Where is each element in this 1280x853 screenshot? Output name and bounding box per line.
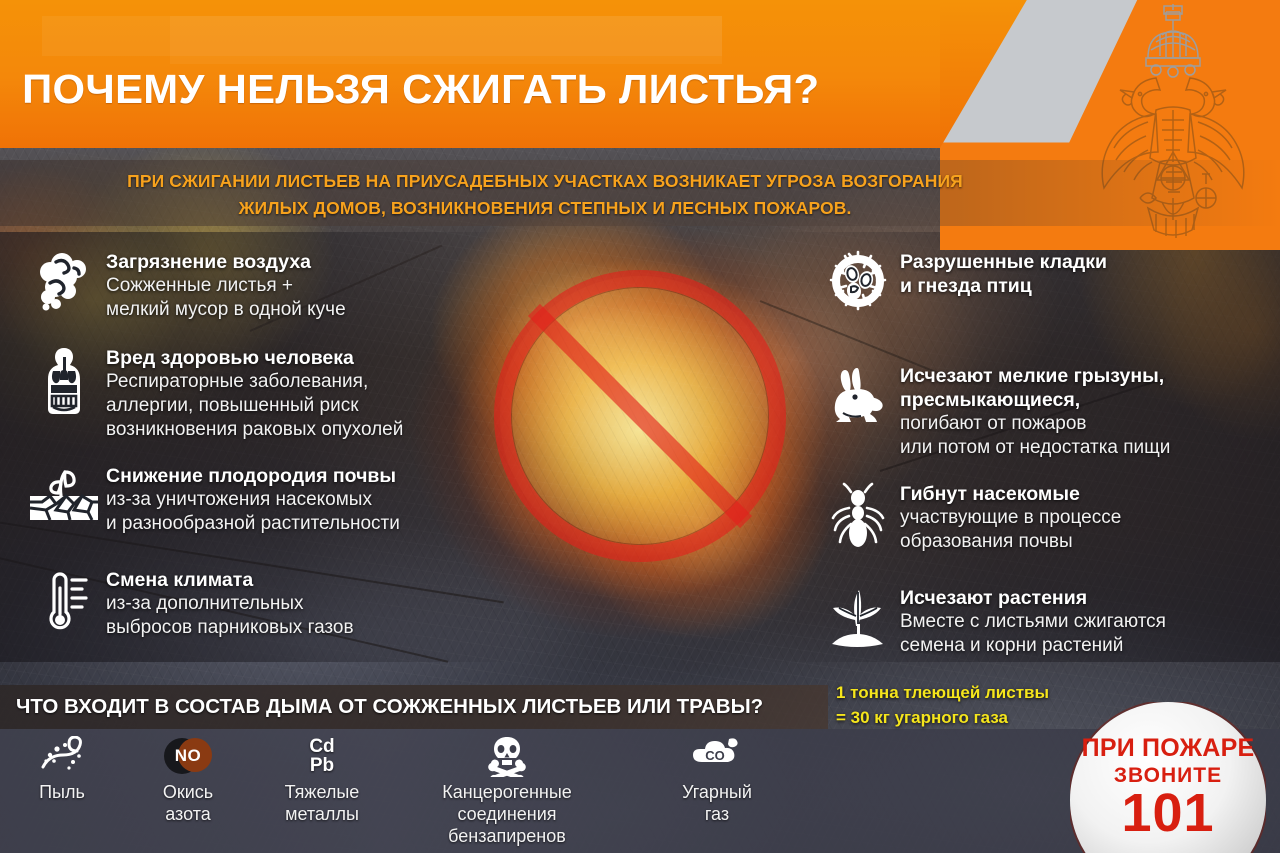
fact-body: участвующие в процессе образования почвы (900, 506, 1278, 554)
co-formula: CO (705, 748, 725, 763)
smoke-cloud-icon (22, 248, 106, 322)
badge-line-1: ПРИ ПОЖАРЕ (1070, 734, 1266, 763)
fact-insects-die: Гибнут насекомые участвующие в процессе … (816, 480, 1278, 554)
fact-text: Исчезают растения Вместе с листьями сжиг… (900, 584, 1278, 658)
heavy-metals-icon: Cd Pb (252, 733, 392, 779)
ant-icon (816, 480, 900, 554)
no-formula: NO (164, 738, 212, 774)
skull-crossbones-icon (392, 733, 622, 779)
fact-body: Респираторные заболевания, аллергии, пов… (106, 370, 522, 442)
fact-body: погибают от пожаров или потом от недоста… (900, 412, 1278, 460)
fact-plants-disappear: Исчезают растения Вместе с листьями сжиг… (816, 584, 1278, 658)
fact-text: Гибнут насекомые участвующие в процессе … (900, 480, 1278, 554)
component-nitrogen-oxide: NO Окись азота (124, 729, 252, 825)
subtitle-banner: ПРИ СЖИГАНИИ ЛИСТЬЕВ НА ПРИУСАДЕБНЫХ УЧА… (0, 160, 1280, 226)
component-label: Канцерогенные соединения бензапиренов (392, 781, 622, 847)
fact-text: Смена климата из-за дополнительных выбро… (106, 566, 522, 640)
fact-text: Вред здоровью человека Респираторные заб… (106, 344, 522, 442)
thermometer-icon (22, 566, 106, 640)
fact-destroyed-nests: Разрушенные кладки и гнезда птиц (816, 248, 1278, 322)
fact-title: Гибнут насекомые (900, 482, 1278, 506)
fact-body: Вместе с листьями сжигаются семена и кор… (900, 610, 1278, 658)
carbon-monoxide-fact: 1 тонна тлеющей листвы = 30 кг угарного … (836, 680, 1066, 730)
human-body-organs-icon (22, 344, 106, 418)
smoke-composition-heading: ЧТО ВХОДИТ В СОСТАВ ДЫМА ОТ СОЖЖЕННЫХ ЛИ… (0, 685, 828, 729)
fact-rodents-reptiles: Исчезают мелкие грызуны, пресмыкающиеся,… (816, 362, 1278, 460)
carbon-monoxide-fact-line-2: = 30 кг угарного газа (836, 705, 1066, 730)
page-title: ПОЧЕМУ НЕЛЬЗЯ СЖИГАТЬ ЛИСТЬЯ? (22, 66, 819, 113)
fact-human-health: Вред здоровью человека Респираторные заб… (22, 344, 522, 442)
emergency-number: 101 (1070, 784, 1266, 842)
component-carcinogens: Канцерогенные соединения бензапиренов (392, 729, 622, 847)
component-label: Окись азота (124, 781, 252, 825)
fact-title: Снижение плодородия почвы (106, 464, 522, 488)
heavy-metals-formula: Cd Pb (309, 737, 334, 775)
co-cloud-icon: CO (622, 733, 812, 779)
dust-swirl-icon (0, 733, 124, 779)
fact-text: Разрушенные кладки и гнезда птиц (900, 248, 1278, 298)
smoke-components-row: Пыль NO Окись азота Cd Pb Тяжелые металл… (0, 729, 828, 853)
component-label: Угарный газ (622, 781, 812, 825)
prohibition-sign (494, 270, 786, 562)
fact-title: Исчезают растения (900, 586, 1278, 610)
subtitle-line-1: ПРИ СЖИГАНИИ ЛИСТЬЕВ НА ПРИУСАДЕБНЫХ УЧА… (127, 171, 963, 191)
rabbit-icon (816, 362, 900, 436)
fact-title: Смена климата (106, 568, 522, 592)
sprout-plant-icon (816, 584, 900, 658)
component-dust: Пыль (0, 729, 124, 803)
fact-body: из-за уничтожения насекомых и разнообраз… (106, 488, 522, 536)
component-carbon-monoxide: CO Угарный газ (622, 729, 812, 825)
fact-climate-change: Смена климата из-за дополнительных выбро… (22, 566, 522, 640)
fire-emergency-badge: ПРИ ПОЖАРЕ ЗВОНИТЕ 101 (1070, 702, 1266, 853)
fact-air-pollution: Загрязнение воздуха Сожженные листья + м… (22, 248, 522, 322)
prohibition-slash (528, 304, 752, 528)
left-facts-column: Загрязнение воздуха Сожженные листья + м… (22, 248, 522, 656)
fact-body: из-за дополнительных выбросов парниковых… (106, 592, 522, 640)
fact-title: Вред здоровью человека (106, 346, 522, 370)
no-badge-icon: NO (124, 733, 252, 779)
fact-text: Загрязнение воздуха Сожженные листья + м… (106, 248, 522, 322)
carbon-monoxide-fact-line-1: 1 тонна тлеющей листвы (836, 680, 1066, 705)
infographic-poster: ПОЧЕМУ НЕЛЬЗЯ СЖИГАТЬ ЛИСТЬЯ? (0, 0, 1280, 853)
fact-title: Загрязнение воздуха (106, 250, 522, 274)
birds-nest-eggs-icon (816, 248, 900, 322)
subtitle-line-2: ЖИЛЫХ ДОМОВ, ВОЗНИКНОВЕНИЯ СТЕПНЫХ И ЛЕС… (239, 198, 852, 218)
smoke-composition-bar: ЧТО ВХОДИТ В СОСТАВ ДЫМА ОТ СОЖЖЕННЫХ ЛИ… (0, 685, 828, 729)
component-label: Пыль (0, 781, 124, 803)
header-placeholder-box-secondary (170, 16, 722, 64)
fact-title: Исчезают мелкие грызуны, пресмыкающиеся, (900, 364, 1278, 412)
fact-title: Разрушенные кладки и гнезда птиц (900, 250, 1278, 298)
component-label: Тяжелые металлы (252, 781, 392, 825)
fact-text: Снижение плодородия почвы из-за уничтоже… (106, 462, 522, 536)
right-facts-column: Разрушенные кладки и гнезда птиц (816, 248, 1278, 674)
fact-text: Исчезают мелкие грызуны, пресмыкающиеся,… (900, 362, 1278, 460)
cracked-soil-sprout-icon (22, 462, 106, 536)
fact-body: Сожженные листья + мелкий мусор в одной … (106, 274, 522, 322)
fact-soil-fertility: Снижение плодородия почвы из-за уничтоже… (22, 462, 522, 536)
component-heavy-metals: Cd Pb Тяжелые металлы (252, 729, 392, 825)
